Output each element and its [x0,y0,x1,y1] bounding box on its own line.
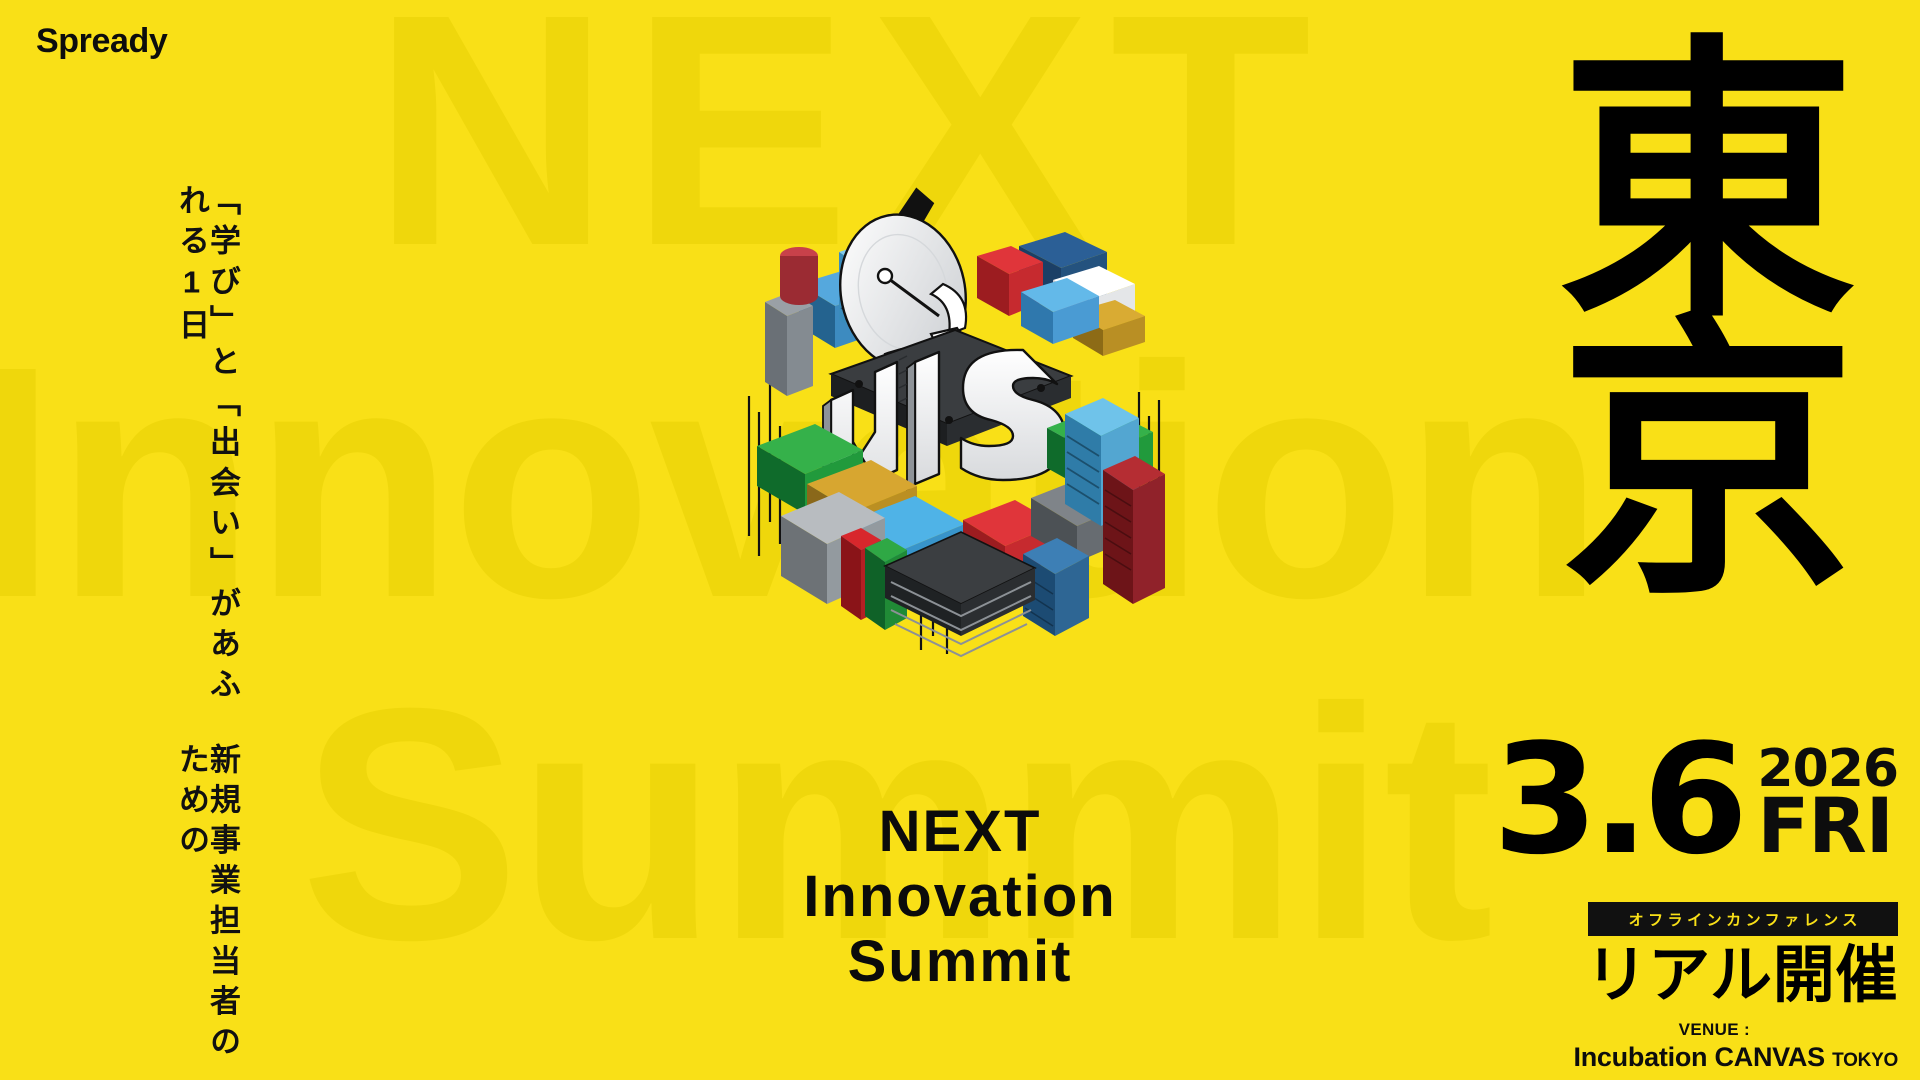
event-title-line-3: Summit [640,930,1280,995]
tagline-line-2: 「学び」と「出会い」があふれる1日 [176,184,238,709]
city-char-2: 京 [1520,323,1892,600]
event-title: NEXT Innovation Summit [640,800,1280,995]
date-weekday: FRI [1757,793,1892,858]
event-date: 3.6 2026 FRI [1493,738,1898,863]
date-day: 3.6 [1493,738,1742,863]
vertical-tagline: 新規事業担当者のための 「学び」と「出会い」があふれる1日 [176,96,238,1080]
event-info-panel: 東 京 3.6 2026 FRI オフラインカンファレンス リアル開催 VENU… [1500,0,1920,1080]
city-char-1: 東 [1520,46,1892,323]
date-side-group: 2026 FRI [1757,747,1898,863]
isometric-city-illustration [735,184,1185,654]
format-badge: オフラインカンファレンス [1588,902,1898,936]
tagline-line-1: 新規事業担当者のための [176,743,238,1080]
event-title-line-1: NEXT [640,800,1280,865]
venue-label: VENUE : [1679,1020,1750,1040]
format-headline: リアル開催 [1586,944,1898,1006]
venue-name-suffix: TOKYO [1832,1050,1898,1071]
venue-name: Incubation CANVAS TOKYO [1573,1042,1898,1073]
city-name: 東 京 [1520,46,1892,600]
event-title-line-2: Innovation [640,865,1280,930]
brand-logo[interactable]: Spready [36,22,167,61]
venue-name-main: Incubation CANVAS [1573,1042,1824,1072]
